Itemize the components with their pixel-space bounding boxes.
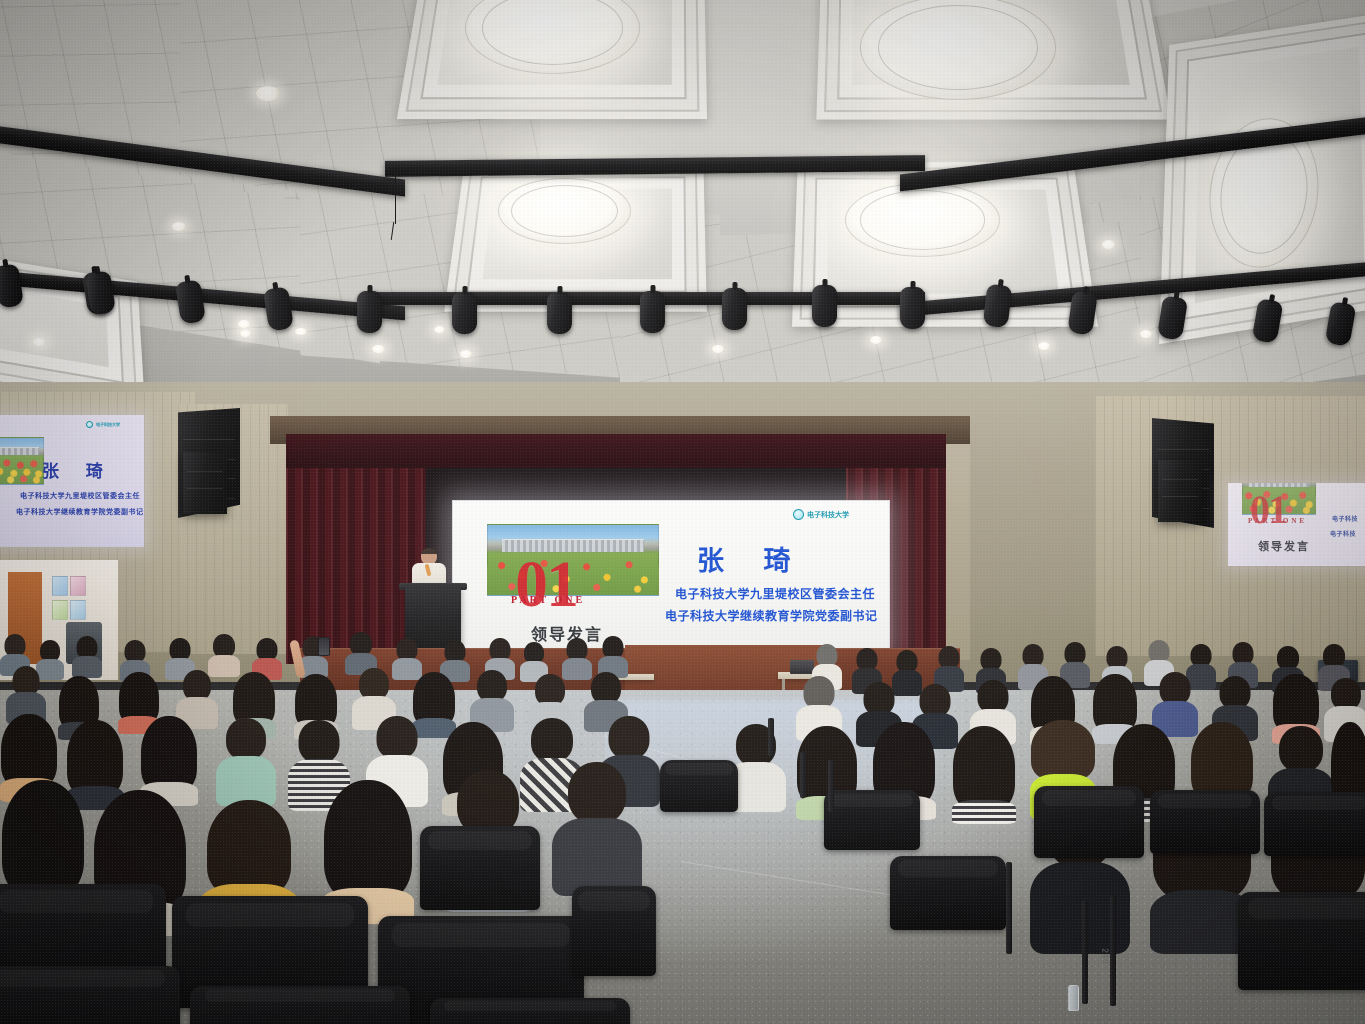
- university-logo-text: 电子科技大学: [807, 510, 849, 520]
- audience-member: [140, 716, 198, 800]
- recessed-downlight: [712, 345, 724, 353]
- line-array-speaker-left-lower: [183, 452, 227, 514]
- slide-title-line-2: 电子科技大学继续教育学院党委副书记: [16, 507, 144, 517]
- hanging-cable: [395, 168, 396, 224]
- recessed-downlight: [460, 350, 472, 358]
- recessed-downlight: [33, 338, 46, 346]
- water-bottle: [1068, 985, 1079, 1011]
- part-one-label: PART ONE: [1248, 517, 1307, 525]
- slide-title-line-1: 电子科技大学九里堤校区管委会主任: [20, 491, 140, 501]
- chair-leg: [1110, 896, 1116, 1006]
- auditorium-chair[interactable]: [1150, 790, 1260, 854]
- audience-member: [598, 636, 628, 676]
- auditorium-chair[interactable]: [890, 856, 1006, 930]
- wall-poster: [52, 576, 68, 596]
- chair-leg: [828, 760, 834, 812]
- ceiling-luminaire: [498, 178, 631, 244]
- stage-par-light: [722, 288, 747, 330]
- recessed-downlight: [238, 320, 250, 328]
- stage-par-light: [812, 285, 837, 327]
- campus-building: [0, 447, 39, 455]
- auditorium-chair[interactable]: [824, 790, 920, 850]
- section-label-cn: 领导发言: [1258, 538, 1310, 554]
- wall-poster: [70, 600, 86, 620]
- stage-par-light: [547, 292, 572, 334]
- slide-speaker-name: 张 琦: [697, 539, 807, 578]
- auditorium-chair[interactable]: [1034, 786, 1144, 858]
- main-projection-screen: 电子科技大学 01 PART ONE 领导发言 张 琦 电子科技大学九里堤校区管…: [452, 500, 890, 652]
- auditorium-chair[interactable]: [0, 966, 180, 1024]
- wall-poster: [70, 576, 86, 596]
- auditorium-chair[interactable]: [660, 760, 738, 812]
- chair-leg: [1006, 862, 1012, 954]
- slide-speaker-name: 张 琦: [42, 457, 114, 482]
- stage-curtain-valance: [286, 434, 946, 468]
- slide-title-line-1: 电子科技: [1332, 514, 1358, 523]
- audience-member: [216, 718, 276, 804]
- line-array-speaker-right-lower: [1158, 460, 1202, 522]
- chair-number-label: 240: [1101, 948, 1110, 964]
- auditorium-chair[interactable]: [1264, 792, 1365, 856]
- recessed-downlight: [372, 345, 385, 353]
- chair-leg: [768, 718, 774, 756]
- laptop: [790, 660, 814, 674]
- university-logo: 电子科技大学: [86, 421, 120, 428]
- recessed-downlight: [1140, 330, 1152, 338]
- auditorium-chair[interactable]: [572, 886, 656, 976]
- auditorium-chair[interactable]: [1238, 892, 1365, 990]
- chair-leg: [1082, 900, 1088, 1004]
- university-logo-mark: [86, 421, 93, 428]
- slide-campus-photo: [0, 437, 44, 485]
- audience-member: [72, 636, 102, 676]
- wall-poster: [52, 600, 68, 620]
- auditorium-chair[interactable]: [420, 826, 540, 910]
- stage-par-light: [900, 287, 925, 329]
- stage-par-light: [640, 291, 665, 333]
- recessed-downlight: [1102, 240, 1115, 249]
- part-one-label: PART ONE: [511, 595, 585, 606]
- recessed-downlight: [1038, 342, 1050, 350]
- recessed-downlight: [256, 86, 280, 101]
- ceiling-luminaire: [845, 183, 1000, 257]
- recessed-downlight: [240, 330, 251, 337]
- audience-member: [552, 762, 642, 892]
- auditorium-photo: 电子科技大学 01 PART ONE 领导发言 张 琦 电子科技大学九里堤校区管…: [0, 0, 1365, 1024]
- side-projection-screen-left: 电子科技大学 张 琦 电子科技大学九里堤校区管委会主任 电子科技大学继续教育学院…: [0, 415, 144, 547]
- stage-par-light: [357, 291, 382, 333]
- university-logo-mark: [793, 509, 804, 520]
- university-logo-text: 电子科技大学: [96, 422, 120, 428]
- slide-title-line-2: 电子科技: [1330, 529, 1356, 538]
- ceiling: [0, 0, 1365, 395]
- auditorium-chair[interactable]: [430, 998, 630, 1024]
- smartphone: [318, 637, 330, 656]
- slide-title-line-2: 电子科技大学继续教育学院党委副书记: [665, 607, 878, 624]
- recessed-downlight: [172, 222, 186, 231]
- recessed-downlight: [295, 328, 307, 335]
- university-logo: 电子科技大学: [793, 509, 849, 520]
- side-projection-screen-right: 01 PART ONE 领导发言 电子科技 电子科技: [1228, 483, 1365, 566]
- recessed-downlight: [434, 326, 445, 333]
- recessed-downlight: [870, 336, 882, 344]
- audience-member: [470, 670, 514, 730]
- flower-field: [0, 456, 43, 484]
- stage-par-light: [452, 292, 477, 334]
- audience-member: [952, 726, 1016, 818]
- auditorium-chair[interactable]: [190, 986, 410, 1024]
- chair-leg: [800, 752, 806, 798]
- slide-title-line-1: 电子科技大学九里堤校区管委会主任: [675, 585, 875, 602]
